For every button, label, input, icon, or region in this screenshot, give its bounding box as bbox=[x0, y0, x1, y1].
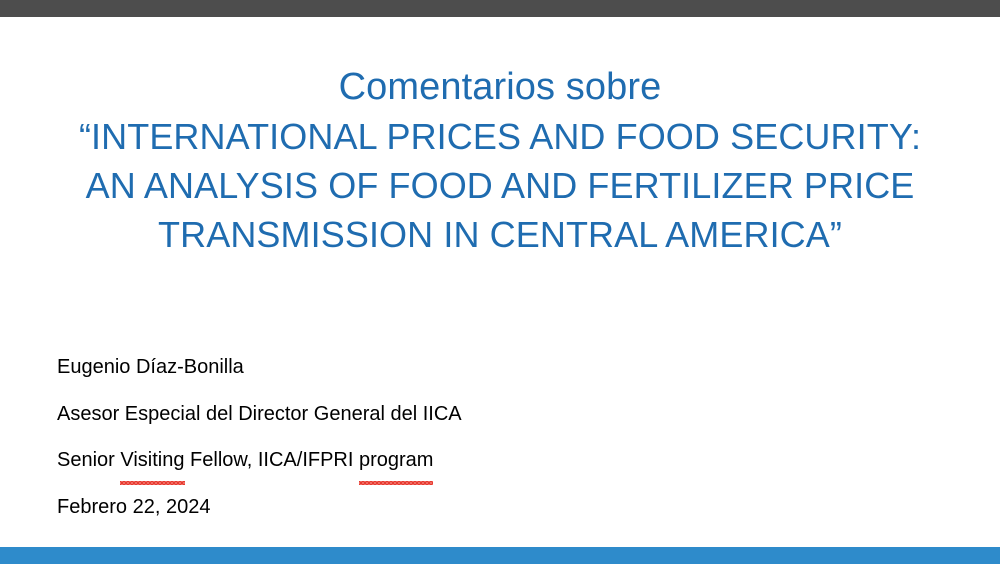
misspelled-word-program: program bbox=[359, 437, 433, 484]
title-line-2: “INTERNATIONAL PRICES AND FOOD SECURITY: bbox=[60, 112, 940, 161]
affiliation-middle: Fellow, IICA/IFPRI bbox=[185, 449, 359, 471]
affiliation-suffix bbox=[433, 449, 439, 471]
presentation-slide: Comentarios sobre “INTERNATIONAL PRICES … bbox=[0, 0, 1000, 564]
affiliation-prefix: Senior bbox=[57, 449, 120, 471]
misspelled-word-visiting: Visiting bbox=[120, 437, 184, 484]
presentation-date: Febrero 22, 2024 bbox=[57, 484, 757, 531]
title-line-1: Comentarios sobre bbox=[60, 62, 940, 112]
author-role: Asesor Especial del Director General del… bbox=[57, 391, 757, 438]
slide-body: Eugenio Díaz-Bonilla Asesor Especial del… bbox=[57, 344, 757, 530]
top-accent-bar bbox=[0, 0, 1000, 17]
title-line-4: TRANSMISSION IN CENTRAL AMERICA” bbox=[60, 210, 940, 259]
slide-title: Comentarios sobre “INTERNATIONAL PRICES … bbox=[60, 62, 940, 259]
bottom-accent-bar bbox=[0, 547, 1000, 564]
title-line-3: AN ANALYSIS OF FOOD AND FERTILIZER PRICE bbox=[60, 161, 940, 210]
author-affiliation: Senior Visiting Fellow, IICA/IFPRI progr… bbox=[57, 437, 757, 484]
author-name: Eugenio Díaz-Bonilla bbox=[57, 344, 757, 391]
